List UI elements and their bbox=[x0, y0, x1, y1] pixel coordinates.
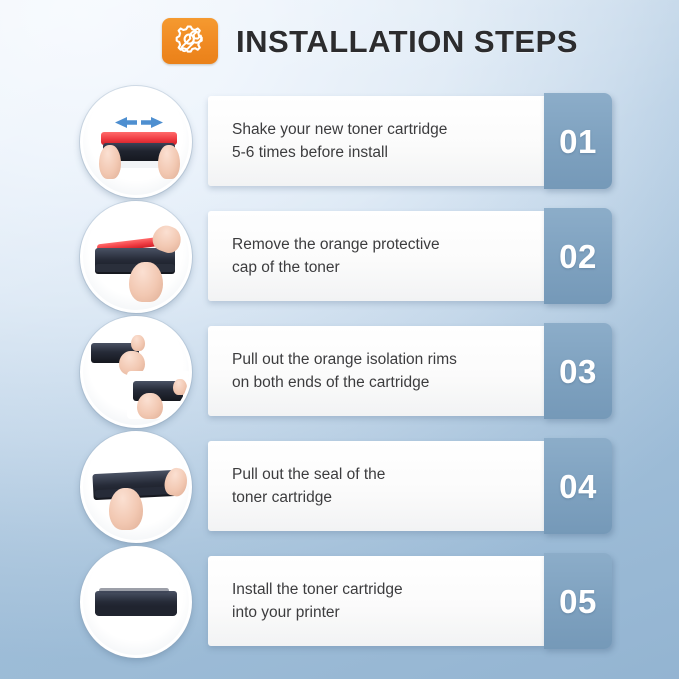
step-text-panel-5: Install the toner cartridge into your pr… bbox=[208, 556, 546, 646]
step-text-4: Pull out the seal of the toner cartridge bbox=[232, 463, 385, 510]
step-card-5: Install the toner cartridge into your pr… bbox=[208, 553, 612, 649]
step-text-panel-1: Shake your new toner cartridge 5-6 times… bbox=[208, 96, 546, 186]
step-row-2: Remove the orange protective cap of the … bbox=[0, 200, 679, 312]
step-text-panel-3: Pull out the orange isolation rims on bo… bbox=[208, 326, 546, 416]
step-number-3: 03 bbox=[559, 355, 597, 388]
step-text-panel-4: Pull out the seal of the toner cartridge bbox=[208, 441, 546, 531]
step-number-block-3: 03 bbox=[544, 323, 612, 419]
step-card-2: Remove the orange protective cap of the … bbox=[208, 208, 612, 304]
step-image-4 bbox=[80, 431, 192, 543]
step-number-block-5: 05 bbox=[544, 553, 612, 649]
step-number-block-1: 01 bbox=[544, 93, 612, 189]
step-text-3: Pull out the orange isolation rims on bo… bbox=[232, 348, 457, 395]
step-row-3: Pull out the orange isolation rims on bo… bbox=[0, 315, 679, 427]
step-row-1: Shake your new toner cartridge 5-6 times… bbox=[0, 85, 679, 197]
step-text-1: Shake your new toner cartridge 5-6 times… bbox=[232, 118, 447, 165]
page-title: INSTALLATION STEPS bbox=[236, 26, 578, 57]
step-number-block-2: 02 bbox=[544, 208, 612, 304]
step-image-2 bbox=[80, 201, 192, 313]
step-number-2: 02 bbox=[559, 240, 597, 273]
step-image-3 bbox=[80, 316, 192, 428]
step-row-5: Install the toner cartridge into your pr… bbox=[0, 545, 679, 657]
step-number-1: 01 bbox=[559, 125, 597, 158]
step-number-4: 04 bbox=[559, 470, 597, 503]
step-text-panel-2: Remove the orange protective cap of the … bbox=[208, 211, 546, 301]
header: INSTALLATION STEPS bbox=[162, 18, 578, 64]
step-row-4: Pull out the seal of the toner cartridge… bbox=[0, 430, 679, 542]
installation-steps-poster: INSTALLATION STEPS bbox=[0, 0, 679, 679]
step-number-block-4: 04 bbox=[544, 438, 612, 534]
step-image-5 bbox=[80, 546, 192, 658]
step-text-5: Install the toner cartridge into your pr… bbox=[232, 578, 403, 625]
step-text-2: Remove the orange protective cap of the … bbox=[232, 233, 440, 280]
shake-arrows-icon bbox=[115, 117, 163, 128]
step-image-1 bbox=[80, 86, 192, 198]
step-card-4: Pull out the seal of the toner cartridge… bbox=[208, 438, 612, 534]
step-number-5: 05 bbox=[559, 585, 597, 618]
gear-wrench-icon bbox=[162, 18, 218, 64]
step-card-1: Shake your new toner cartridge 5-6 times… bbox=[208, 93, 612, 189]
step-card-3: Pull out the orange isolation rims on bo… bbox=[208, 323, 612, 419]
